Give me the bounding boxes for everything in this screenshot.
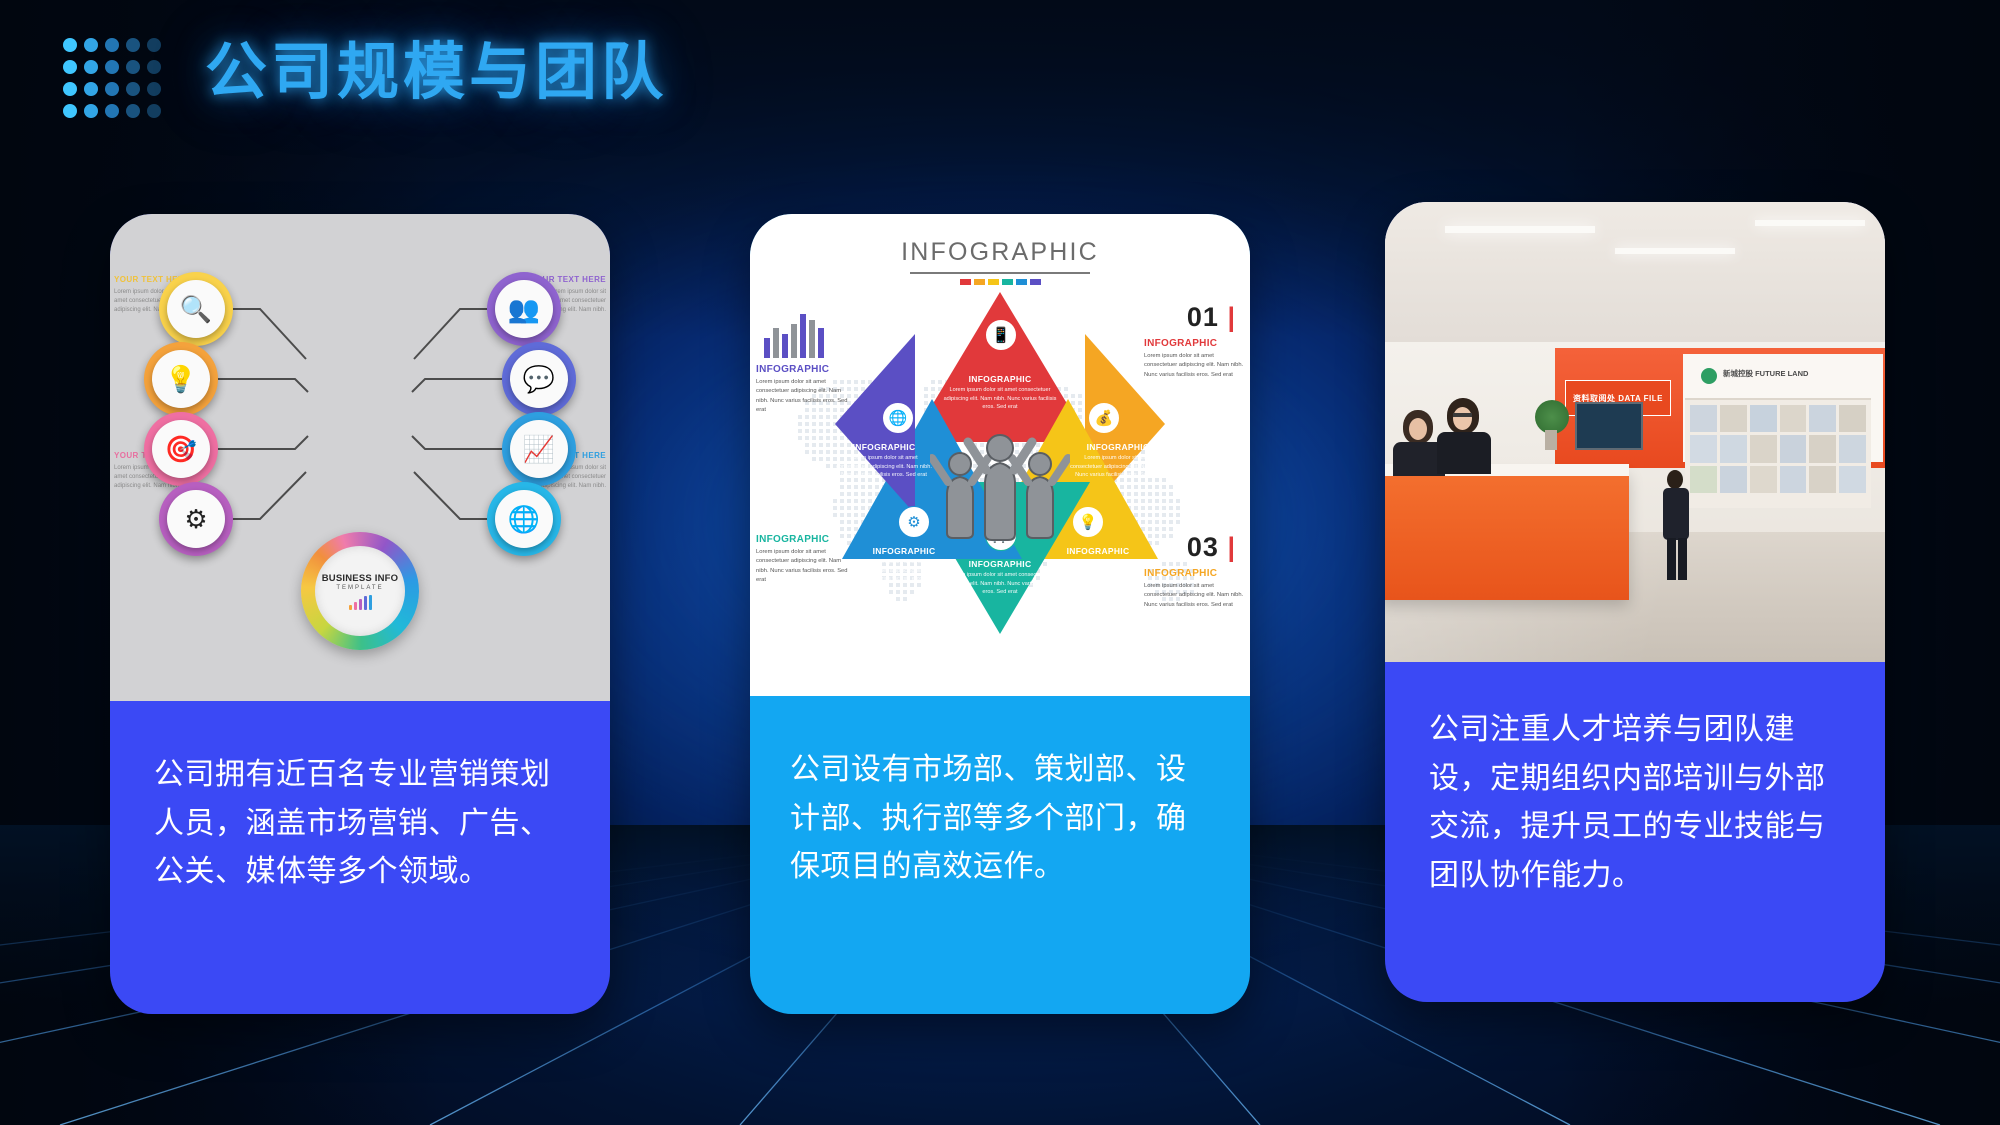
card-2-panel: 公司设有市场部、策划部、设计部、执行部等多个部门，确保项目的高效运作。 [750,696,1250,1014]
card-3-image: 新城控股 FUTURE LAND 资料取阅处 DATA FILE [1385,202,1885,662]
side-block-right-top: INFOGRAPHIC Lorem ipsum dolor sit amet c… [1144,338,1244,380]
info-card-1[interactable]: YOUR TEXT HERE Lorem ipsum dolor sit ame… [110,214,610,1014]
card-2-description: 公司设有市场部、策划部、设计部、执行部等多个部门，确保项目的高效运作。 [790,746,1216,892]
brand-logo-icon [1701,368,1717,384]
info-card-2[interactable]: INFOGRAPHIC [750,214,1250,1014]
side-block-left-bottom: INFOGRAPHIC Lorem ipsum dolor sit amet c… [756,534,852,585]
phone-icon: 📱 [985,319,1017,351]
brochure-rack [1685,398,1871,508]
visitor-leg-right [1678,538,1687,580]
hub-subtitle: TEMPLATE [336,585,383,591]
target-icon[interactable]: 🎯 [144,412,218,486]
slide-canvas: 公司规模与团队 [0,0,2000,1125]
card-1-image: YOUR TEXT HERE Lorem ipsum dolor sit ame… [110,214,610,701]
side-block-right-bottom: INFOGRAPHIC Lorem ipsum dolor sit amet c… [1144,568,1244,610]
hexagon-triangles-infographic: INFOGRAPHIC [750,214,1250,696]
gear-icon[interactable]: ⚙ [159,482,233,556]
segment-label-upper-right: INFOGRAPHIC Lorem ipsum dolor sit amet c… [1070,442,1166,480]
infographic-hub: BUSINESS INFO TEMPLATE [301,532,419,650]
plant-icon [1535,400,1569,434]
gears-icon: ⚙ [898,506,930,538]
search-icon[interactable]: 🔍 [159,272,233,346]
card-1-panel: 公司拥有近百名专业营销策划人员，涵盖市场营销、广告、公关、媒体等多个领域。 [110,701,610,1014]
office-reception-photo: 新城控股 FUTURE LAND 资料取阅处 DATA FILE [1385,202,1885,662]
visitor-leg-left [1667,538,1676,580]
display-monitor [1575,402,1643,450]
lightbulb-icon[interactable]: 💡 [144,342,218,416]
visitor-body [1663,488,1689,540]
segment-label-upper-left: INFOGRAPHIC Lorem ipsum dolor sit amet c… [836,442,932,480]
segment-label-bottom: INFOGRAPHIC Lorem ipsum dolor sit amet c… [942,559,1058,597]
segment-label-lower-right: INFOGRAPHIC Lorem ipsum dolor sit amet c… [1048,546,1148,584]
mini-bar-chart [764,312,824,358]
ceiling-light-1 [1445,226,1595,233]
card-3-description: 公司注重人才培养与团队建设，定期组织内部培训与外部交流，提升员工的专业技能与团队… [1429,706,1855,900]
staff-2-glasses [1453,413,1472,417]
globe-icon[interactable]: 🌐 [487,482,561,556]
visitor-head [1667,470,1683,489]
card-2-image: INFOGRAPHIC [750,214,1250,696]
segment-label-lower-left: INFOGRAPHIC Lorem ipsum dolor sit amet c… [854,546,954,584]
staff-1-face [1409,418,1427,440]
ceiling-light-2 [1615,248,1735,254]
hub-title: BUSINESS INFO [322,573,399,584]
card-3-panel: 公司注重人才培养与团队建设，定期组织内部培训与外部交流，提升员工的专业技能与团队… [1385,662,1885,1002]
globe-icon: 🌐 [882,402,914,434]
hub-bar-chart [349,595,372,610]
ceiling-light-3 [1755,220,1865,226]
big-number-03: 03 | [1187,532,1236,563]
business-info-template-infographic: YOUR TEXT HERE Lorem ipsum dolor sit ame… [110,214,610,701]
plant-vase [1545,430,1557,450]
reception-counter [1385,470,1629,600]
chart-line-icon[interactable]: 📈 [502,412,576,486]
big-number-01: 01 | [1187,302,1236,333]
info-card-3[interactable]: 新城控股 FUTURE LAND 资料取阅处 DATA FILE [1385,202,1885,1002]
staff-2-face [1453,407,1472,430]
people-icon[interactable]: 👥 [487,272,561,346]
card-1-description: 公司拥有近百名专业营销策划人员，涵盖市场营销、广告、公关、媒体等多个领域。 [154,751,572,897]
staff-2-body [1437,432,1491,474]
chat-icon[interactable]: 💬 [502,342,576,416]
side-block-left-top: INFOGRAPHIC Lorem ipsum dolor sit amet c… [756,364,852,415]
lightbulb-icon: 💡 [1072,506,1104,538]
coins-icon: 💰 [1088,402,1120,434]
brand-sign-text: 新城控股 FUTURE LAND [1723,368,1808,379]
people-group-icon [930,400,1070,550]
